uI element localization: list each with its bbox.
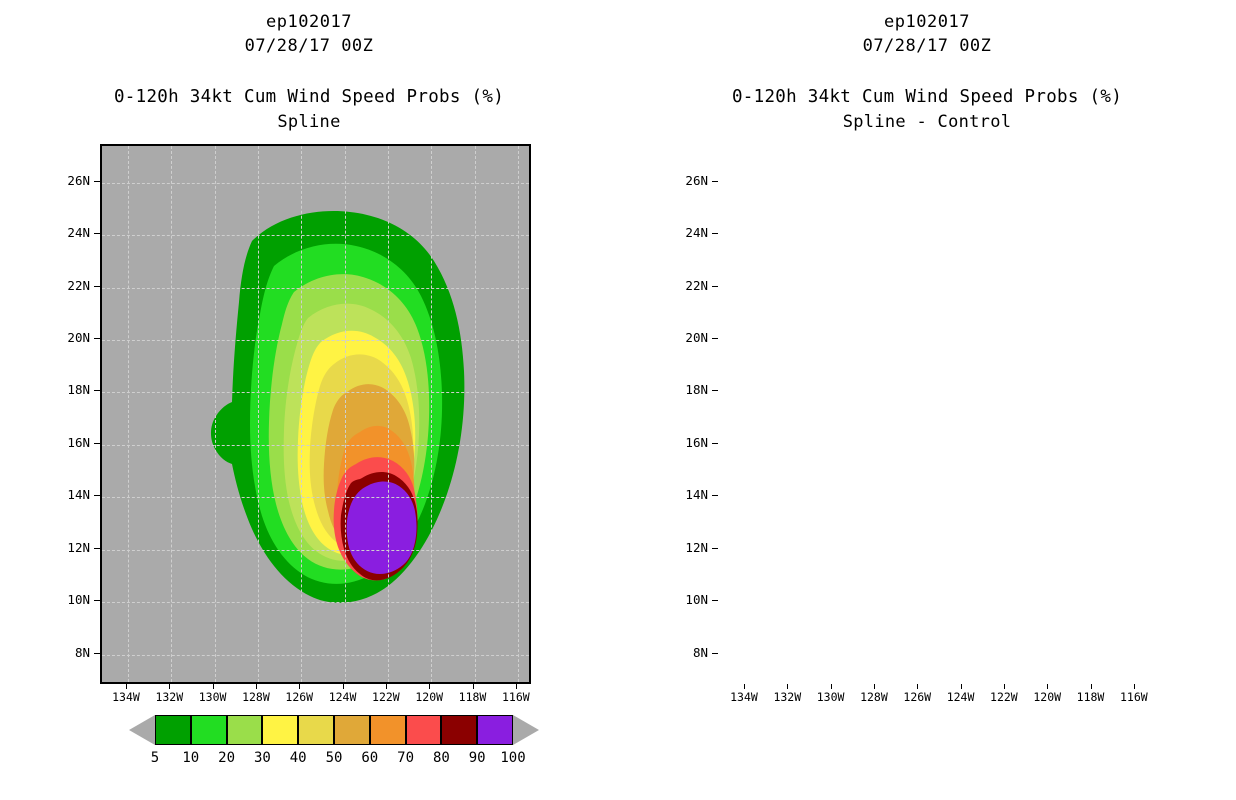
y-axis-label: 24N [662, 225, 708, 240]
y-axis-label: 20N [662, 330, 708, 345]
x-axis-tick [126, 684, 127, 689]
x-axis-label: 130W [191, 690, 235, 704]
colorbar-segment [477, 715, 513, 745]
y-axis-tick [712, 233, 718, 234]
y-axis-label: 12N [662, 540, 708, 555]
y-axis-tick [712, 653, 718, 654]
y-axis-tick [94, 653, 100, 654]
x-axis-label: 134W [722, 690, 766, 704]
x-axis-label: 124W [939, 690, 983, 704]
y-axis-tick [94, 548, 100, 549]
colorbar-probability [155, 715, 513, 745]
y-axis-tick [712, 495, 718, 496]
storm-id-right: ep102017 [618, 12, 1236, 32]
y-axis-label: 12N [44, 540, 90, 555]
y-axis-tick [94, 443, 100, 444]
chart-subtitle-left: Spline [0, 112, 618, 132]
x-axis-label: 122W [364, 690, 408, 704]
contour-field-spline [102, 146, 531, 684]
x-axis-label: 124W [321, 690, 365, 704]
y-axis-label: 22N [44, 278, 90, 293]
colorbar-arrow-over [513, 715, 539, 745]
storm-id-left: ep102017 [0, 12, 618, 32]
colorbar-segment [191, 715, 227, 745]
x-axis-tick [429, 684, 430, 689]
x-axis-label: 120W [407, 690, 451, 704]
colorbar-tick-label: 100 [490, 750, 536, 766]
chart-title-right: 0-120h 34kt Cum Wind Speed Probs (%) [618, 87, 1236, 107]
x-axis-label: 130W [809, 690, 853, 704]
y-axis-label: 20N [44, 330, 90, 345]
y-axis-tick [94, 600, 100, 601]
x-axis-tick [343, 684, 344, 689]
x-axis-label: 134W [104, 690, 148, 704]
chart-subtitle-right: Spline - Control [618, 112, 1236, 132]
y-axis-tick [94, 181, 100, 182]
x-axis-tick [1047, 684, 1048, 689]
y-axis-label: 8N [662, 645, 708, 660]
x-axis-label: 128W [852, 690, 896, 704]
y-axis-tick [712, 443, 718, 444]
x-axis-label: 132W [147, 690, 191, 704]
y-axis-label: 10N [662, 592, 708, 607]
chart-title-left: 0-120h 34kt Cum Wind Speed Probs (%) [0, 87, 618, 107]
x-axis-tick [386, 684, 387, 689]
y-axis-tick [94, 390, 100, 391]
x-axis-tick [917, 684, 918, 689]
x-axis-tick [1134, 684, 1135, 689]
colorbar-segment [155, 715, 191, 745]
x-axis-tick [744, 684, 745, 689]
x-axis-tick [169, 684, 170, 689]
colorbar-segment [441, 715, 477, 745]
y-axis-tick [94, 338, 100, 339]
colorbar-segment [334, 715, 370, 745]
x-axis-tick [1004, 684, 1005, 689]
y-axis-tick [712, 600, 718, 601]
x-axis-tick [874, 684, 875, 689]
y-axis-label: 10N [44, 592, 90, 607]
y-axis-label: 16N [44, 435, 90, 450]
y-axis-label: 16N [662, 435, 708, 450]
y-axis-label: 8N [44, 645, 90, 660]
x-axis-tick [473, 684, 474, 689]
x-axis-tick [256, 684, 257, 689]
x-axis-label: 116W [494, 690, 538, 704]
colorbar-arrow-under [129, 715, 155, 745]
y-axis-label: 22N [662, 278, 708, 293]
x-axis-tick [787, 684, 788, 689]
y-axis-label: 26N [44, 173, 90, 188]
y-axis-tick [712, 286, 718, 287]
y-axis-tick [94, 286, 100, 287]
x-axis-tick [831, 684, 832, 689]
y-axis-tick [94, 233, 100, 234]
x-axis-tick [516, 684, 517, 689]
x-axis-label: 116W [1112, 690, 1156, 704]
y-axis-label: 26N [662, 173, 708, 188]
colorbar-segment [406, 715, 442, 745]
y-axis-label: 18N [662, 382, 708, 397]
storm-date-right: 07/28/17 00Z [618, 36, 1236, 56]
y-axis-tick [712, 390, 718, 391]
x-axis-tick [299, 684, 300, 689]
colorbar-segment [370, 715, 406, 745]
colorbar-segment [227, 715, 263, 745]
x-axis-label: 120W [1025, 690, 1069, 704]
panel-spline-minus-control: ep102017 07/28/17 00Z 0-120h 34kt Cum Wi… [618, 0, 1236, 800]
y-axis-tick [712, 548, 718, 549]
colorbar-segment [262, 715, 298, 745]
y-axis-tick [712, 181, 718, 182]
x-axis-label: 118W [1069, 690, 1113, 704]
x-axis-label: 132W [765, 690, 809, 704]
x-axis-label: 118W [451, 690, 495, 704]
y-axis-label: 14N [662, 487, 708, 502]
y-axis-tick [94, 495, 100, 496]
y-axis-label: 18N [44, 382, 90, 397]
x-axis-tick [961, 684, 962, 689]
x-axis-label: 128W [234, 690, 278, 704]
map-plot-spline [100, 144, 531, 684]
y-axis-label: 14N [44, 487, 90, 502]
storm-date-left: 07/28/17 00Z [0, 36, 618, 56]
y-axis-tick [712, 338, 718, 339]
x-axis-tick [213, 684, 214, 689]
colorbar-segment [298, 715, 334, 745]
panel-spline: ep102017 07/28/17 00Z 0-120h 34kt Cum Wi… [0, 0, 618, 800]
x-axis-label: 122W [982, 690, 1026, 704]
y-axis-label: 24N [44, 225, 90, 240]
x-axis-tick [1091, 684, 1092, 689]
x-axis-label: 126W [277, 690, 321, 704]
x-axis-label: 126W [895, 690, 939, 704]
